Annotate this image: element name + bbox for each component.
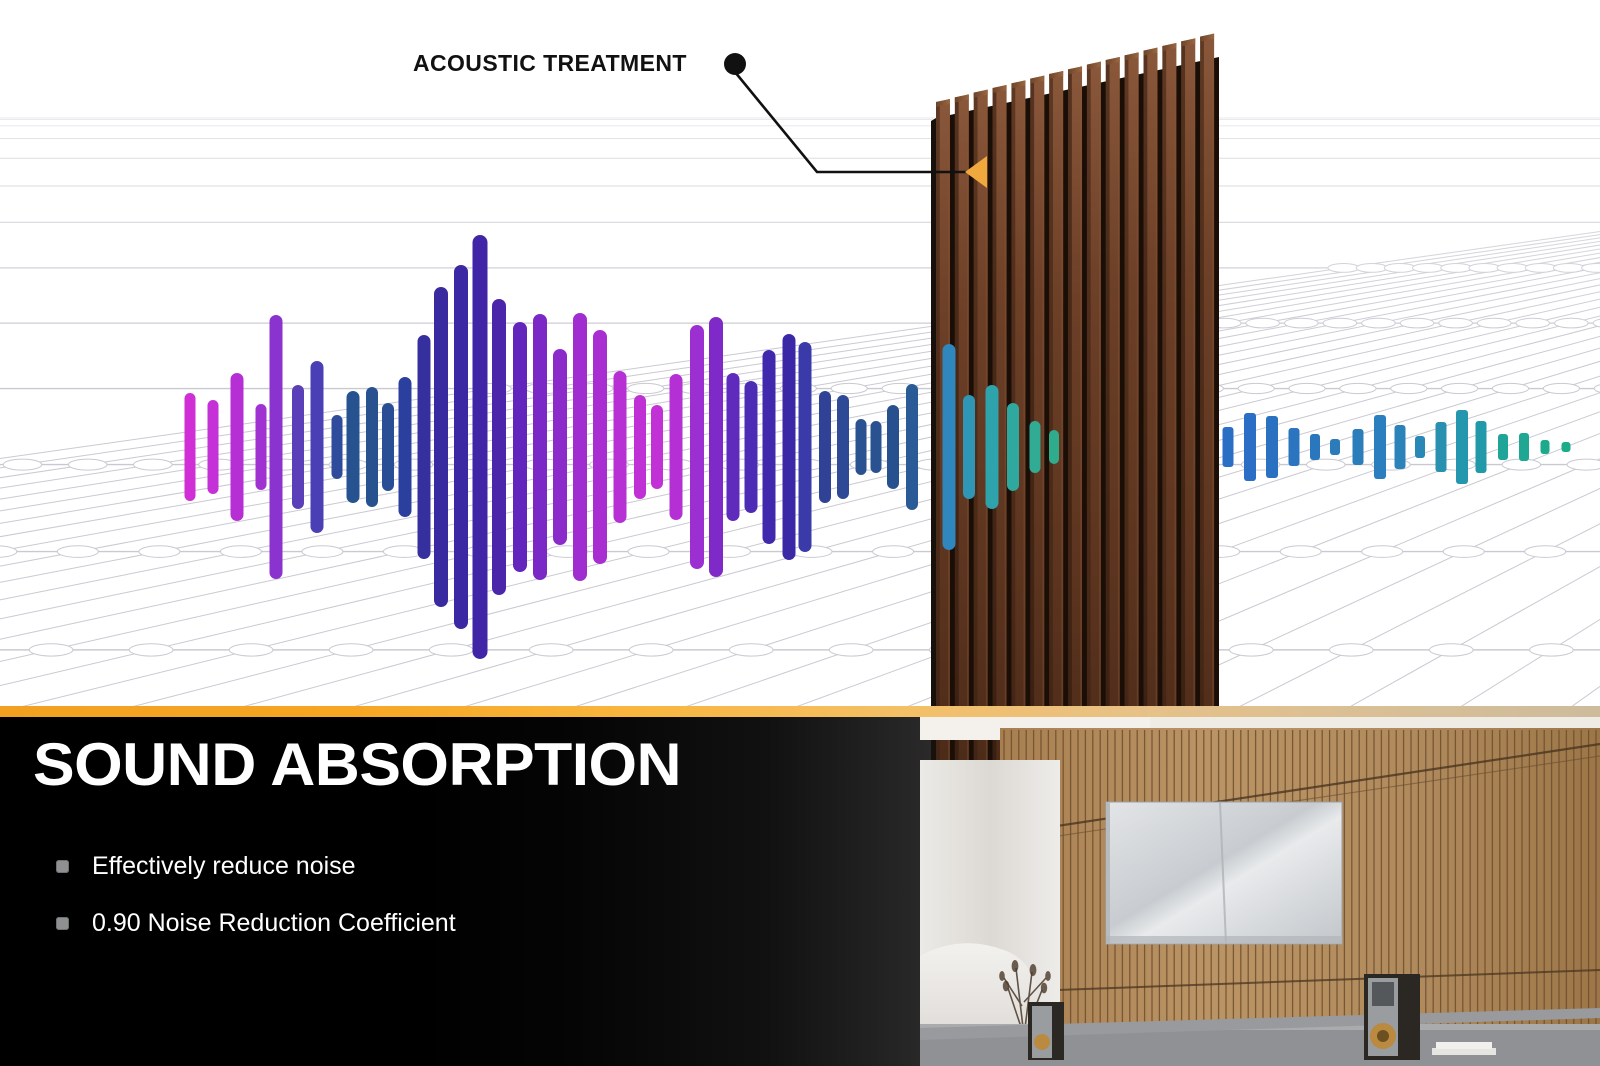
scene-upper bbox=[0, 0, 1600, 706]
waveform-absorbed bbox=[0, 0, 1600, 706]
list-item-label: Effectively reduce noise bbox=[92, 852, 356, 881]
speaker-right bbox=[1364, 974, 1420, 1060]
list-item-label: 0.90 Noise Reduction Coefficient bbox=[92, 909, 456, 938]
list-item: 0.90 Noise Reduction Coefficient bbox=[56, 895, 456, 952]
interior-room-photo bbox=[920, 706, 1600, 1066]
speaker-left bbox=[1028, 1002, 1064, 1060]
waveform-bar bbox=[1049, 430, 1059, 464]
accent-divider bbox=[0, 706, 1600, 717]
waveform-bar bbox=[986, 385, 999, 509]
room-illustration bbox=[920, 706, 1600, 1066]
waveform-bar bbox=[943, 344, 956, 550]
infographic-canvas: ACOUSTIC TREATMENT SOUND ABSORPTION Effe… bbox=[0, 0, 1600, 1066]
waveform-bar bbox=[1030, 421, 1041, 473]
waveform-bar bbox=[963, 395, 975, 499]
page-title: SOUND ABSORPTION bbox=[33, 735, 681, 795]
bullet-marker-icon bbox=[56, 860, 69, 873]
waveform-bar bbox=[1007, 403, 1019, 491]
bullet-marker-icon bbox=[56, 917, 69, 930]
list-item: Effectively reduce noise bbox=[56, 838, 456, 895]
feature-list: Effectively reduce noise 0.90 Noise Redu… bbox=[56, 838, 456, 952]
